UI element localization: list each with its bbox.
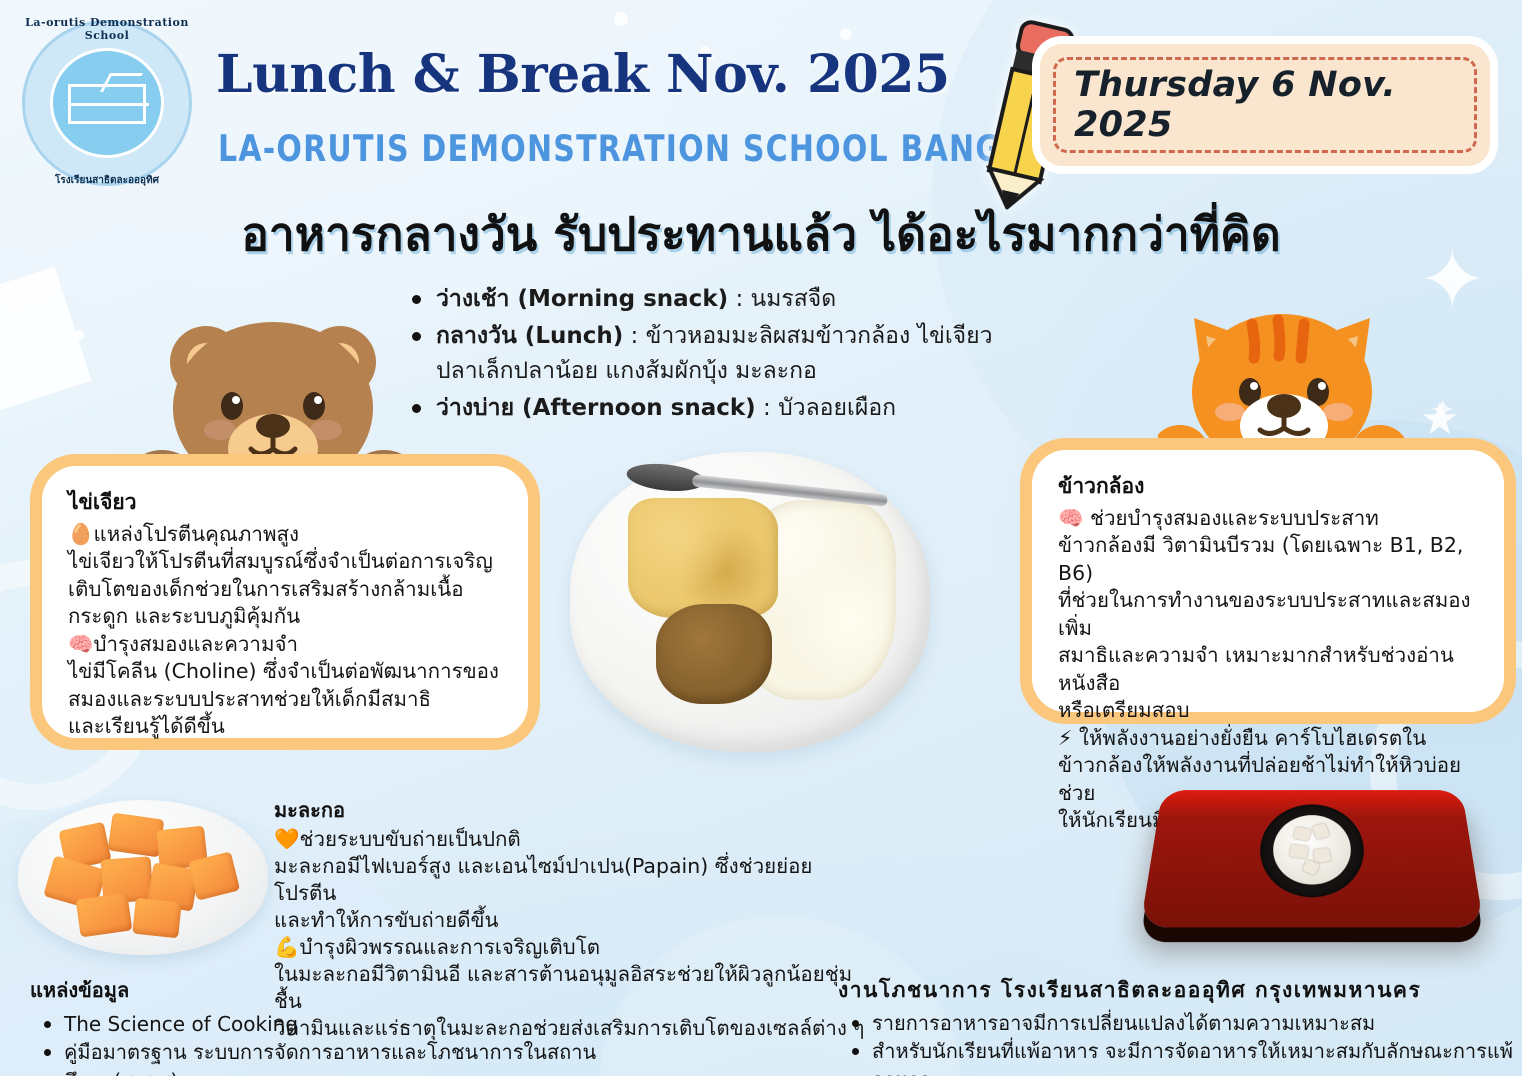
list-item: สำหรับนักเรียนที่แพ้อาหาร จะมีการจัดอาหา…	[838, 1037, 1518, 1076]
menu-item-separator: :	[756, 395, 778, 421]
background-dot	[614, 12, 628, 26]
nutrition-department-section: งานโภชนาการ โรงเรียนสาธิตละอออุทิศ กรุงเ…	[838, 974, 1518, 1076]
headline: อาหารกลางวัน รับประทานแล้ว ได้อะไรมากกว่…	[0, 198, 1522, 271]
school-logo: La-orutis Demonstration School โรงเรียนส…	[14, 12, 200, 194]
menu-item-value: บัวลอยเผือก	[778, 395, 896, 421]
list-item: รายการอาหารอาจมีการเปลี่ยนแปลงได้ตามความ…	[838, 1009, 1518, 1037]
menu-item-label: กลางวัน (Lunch)	[436, 323, 623, 349]
background-dot	[840, 28, 852, 40]
list-item: The Science of Cooking	[30, 1010, 710, 1038]
background-paper-shape	[0, 266, 92, 417]
taro-piece	[1289, 844, 1309, 859]
info-card-brown-rice: ข้าวกล้อง 🧠 ช่วยบำรุงสมองและระบบประสาท ข…	[1032, 450, 1504, 712]
sources-list: The Science of Cooking คู่มือมาตรฐาน ระบ…	[30, 1010, 710, 1076]
menu-item-label: ว่างเช้า (Morning snack)	[436, 286, 728, 312]
taro-piece	[1313, 848, 1331, 863]
sources-section: แหล่งข้อมูล The Science of Cooking คู่มื…	[30, 974, 710, 1076]
menu-item-afternoon-snack: ว่างบ่าย (Afternoon snack) : บัวลอยเผือก	[408, 391, 1128, 426]
nutrition-notes-list: รายการอาหารอาจมีการเปลี่ยนแปลงได้ตามความ…	[838, 1009, 1518, 1076]
poster-root: ✦ ★ ✦ La-orutis Demonstration School โรง…	[0, 0, 1522, 1076]
page-title: Lunch & Break Nov. 2025	[216, 44, 950, 105]
menu-item-morning-snack: ว่างเช้า (Morning snack) : นมรสจืด	[408, 282, 1128, 317]
menu-item-separator: :	[623, 323, 645, 349]
menu-list: ว่างเช้า (Morning snack) : นมรสจืด กลางว…	[408, 282, 1128, 428]
card-title-egg: ไข่เจียว	[68, 486, 504, 519]
list-item: คู่มือมาตรฐาน ระบบการจัดการอาหารและโภชนา…	[30, 1038, 710, 1076]
date-badge-text: Thursday 6 Nov. 2025	[1040, 44, 1490, 166]
menu-item-lunch: กลางวัน (Lunch) : ข้าวหอมมะลิผสมข้าวกล้อ…	[408, 319, 1128, 389]
small-fish-portion	[656, 604, 772, 704]
taro-piece	[1312, 823, 1330, 840]
logo-text-bottom: โรงเรียนสาธิตละอออุทิศ	[14, 173, 200, 188]
menu-item-separator: :	[728, 286, 750, 312]
background-dot	[74, 330, 84, 340]
logo-text-top: La-orutis Demonstration School	[14, 16, 200, 42]
info-card-egg: ไข่เจียว 🥚แหล่งโปรตีนคุณภาพสูง ไข่เจียวใ…	[42, 466, 528, 738]
card-body-egg: 🥚แหล่งโปรตีนคุณภาพสูง ไข่เจียวให้โปรตีนท…	[68, 521, 504, 741]
sources-title: แหล่งข้อมูล	[30, 974, 710, 1006]
dessert-bowl	[1258, 804, 1367, 897]
papaya-piece	[132, 898, 182, 939]
main-dish-photo	[570, 452, 930, 752]
star-icon: ✦	[1430, 396, 1455, 426]
omelette-portion	[628, 498, 778, 618]
star-icon: ★	[1420, 398, 1459, 442]
taro-piece	[1293, 826, 1312, 841]
card-body-brown-rice: 🧠 ช่วยบำรุงสมองและระบบประสาท ข้าวกล้องมี…	[1058, 505, 1480, 835]
nutrition-department-title: งานโภชนาการ โรงเรียนสาธิตละอออุทิศ กรุงเ…	[838, 974, 1518, 1007]
dessert-tray-photo	[1140, 790, 1484, 927]
logo-building-icon	[68, 84, 146, 124]
card-title-papaya: มะละกอ	[274, 794, 874, 826]
menu-item-label: ว่างบ่าย (Afternoon snack)	[436, 395, 756, 421]
page-subtitle: LA-ORUTIS DEMONSTRATION SCHOOL BANGKOK	[218, 128, 1075, 171]
menu-item-value: นมรสจืด	[751, 286, 837, 312]
papaya-photo	[18, 800, 268, 955]
card-title-brown-rice: ข้าวกล้อง	[1058, 470, 1480, 503]
date-badge: Thursday 6 Nov. 2025	[1040, 44, 1490, 166]
papaya-piece	[76, 893, 133, 938]
